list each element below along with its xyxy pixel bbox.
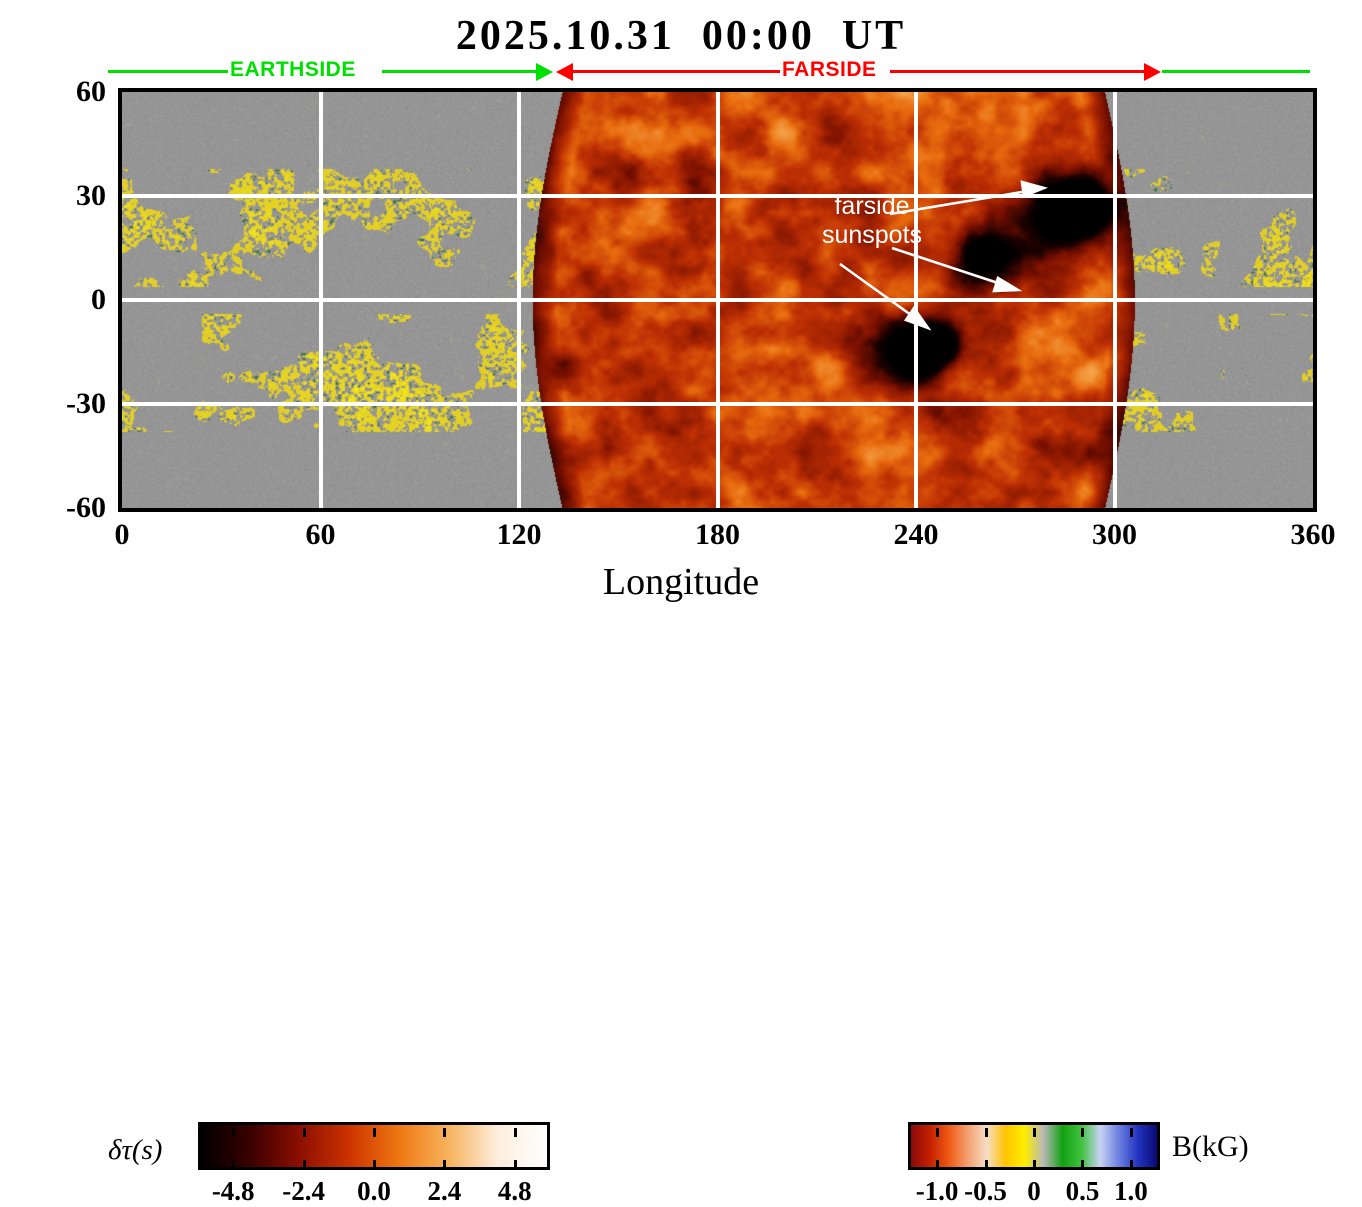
- colorbar-tickmark: [936, 1160, 939, 1169]
- colorbar-tickmark: [232, 1160, 235, 1169]
- x-tick-0: 0: [62, 518, 182, 552]
- magnetic-field-colorbar: B(kG) -1.0-0.500.51.0: [880, 558, 1362, 665]
- hemisphere-arrow-bar: EARTHSIDE FARSIDE: [0, 60, 1362, 84]
- colorbar-tickmark: [1130, 1128, 1133, 1137]
- colorbar-tickmark: [985, 1128, 988, 1137]
- colorbar-tickmark: [936, 1128, 939, 1137]
- colorbar-tick-4.8: 4.8: [460, 1176, 570, 1207]
- colorbar-tickmark: [443, 1160, 446, 1169]
- farside-line-right: [890, 70, 1144, 73]
- delta-tau-colorbar-label: δτ(s): [108, 1134, 162, 1167]
- earthside-line-right: [382, 70, 538, 73]
- y-tick-60: 60: [0, 75, 106, 109]
- colorbar-tickmark: [1130, 1160, 1133, 1169]
- x-tick-60: 60: [261, 518, 381, 552]
- y-tick-30: 30: [0, 179, 106, 213]
- annotation-arrows: [122, 92, 1313, 508]
- colorbar-tickmark: [232, 1128, 235, 1137]
- farside-arrowhead-right-icon: [1144, 63, 1161, 81]
- delta-tau-colorbar: δτ(s) -4.8-2.40.02.44.8: [0, 558, 620, 665]
- annotation-label: farside sunspots: [772, 192, 972, 250]
- earthside-line-left: [108, 70, 228, 73]
- x-tick-240: 240: [856, 518, 976, 552]
- farside-line-left: [572, 70, 780, 73]
- colorbar-tickmark: [373, 1128, 376, 1137]
- page-title: 2025.10.31 00:00 UT: [0, 12, 1362, 60]
- farside-label: FARSIDE: [782, 58, 877, 82]
- magnetic-field-colorbar-label: B(kG): [1172, 1130, 1249, 1164]
- colorbar-tickmark: [1081, 1128, 1084, 1137]
- earthside-arrowhead-icon: [536, 63, 553, 81]
- colorbar-tickmark: [303, 1128, 306, 1137]
- y-tick--30: -30: [0, 387, 106, 421]
- y-tick-0: 0: [0, 283, 106, 317]
- colorbar-tickmark: [1033, 1128, 1036, 1137]
- colorbar-tickmark: [443, 1128, 446, 1137]
- x-tick-360: 360: [1253, 518, 1362, 552]
- colorbar-tickmark: [1081, 1160, 1084, 1169]
- farside-arrowhead-left-icon: [556, 63, 573, 81]
- x-tick-180: 180: [658, 518, 778, 552]
- x-tick-120: 120: [459, 518, 579, 552]
- colorbar-tick-1.0: 1.0: [1076, 1176, 1186, 1207]
- x-tick-300: 300: [1055, 518, 1175, 552]
- colorbar-tickmark: [373, 1160, 376, 1169]
- earthside-line-far-right: [1162, 70, 1310, 73]
- colorbar-tickmark: [303, 1160, 306, 1169]
- colorbar-tickmark: [1033, 1160, 1036, 1169]
- annotation-overlay: farside sunspots: [122, 92, 1313, 508]
- colorbar-tickmark: [514, 1160, 517, 1169]
- farside-map-plot: farside sunspots: [118, 88, 1317, 512]
- colorbar-tickmark: [514, 1128, 517, 1137]
- colorbar-tickmark: [985, 1160, 988, 1169]
- earthside-label: EARTHSIDE: [230, 58, 356, 82]
